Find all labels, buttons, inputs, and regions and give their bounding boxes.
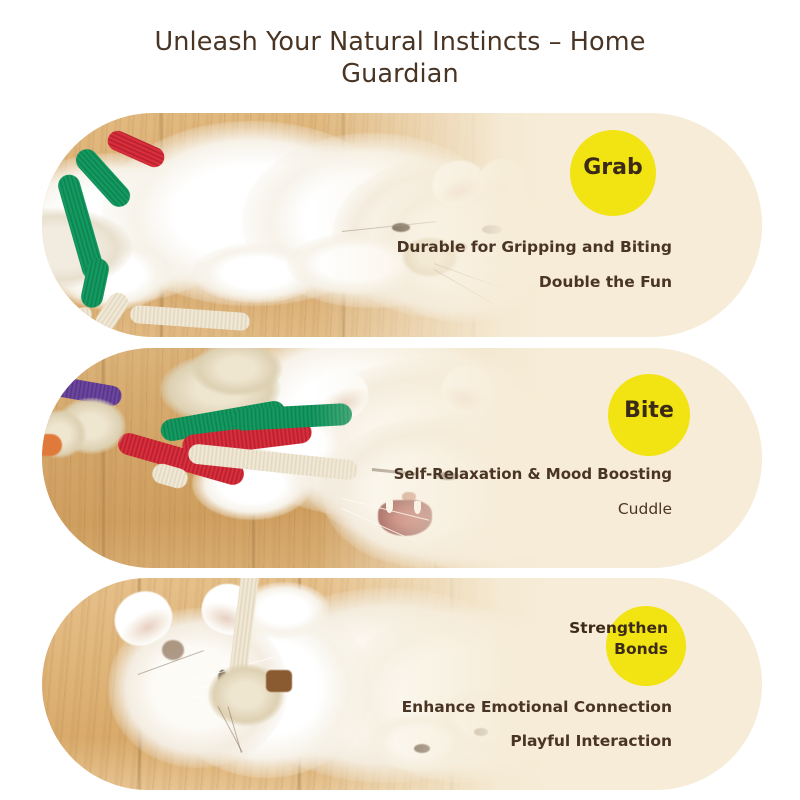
cat-photo-bonds xyxy=(42,578,562,790)
cat-photo-bite xyxy=(42,348,562,568)
badge-label-strengthen-bonds: Strengthen Bonds xyxy=(502,618,668,660)
badge-label-grab: Grab xyxy=(550,155,676,181)
feature-line-2: Cuddle xyxy=(272,500,672,518)
feature-line-1: Enhance Emotional Connection xyxy=(272,698,672,716)
photo-fade-overlay xyxy=(42,113,562,337)
feature-card-bite: Bite Self-Relaxation & Mood Boosting Cud… xyxy=(42,348,762,568)
feature-card-strengthen-bonds: Strengthen Bonds Enhance Emotional Conne… xyxy=(42,578,762,790)
feature-line-2: Playful Interaction xyxy=(272,732,672,750)
badge-label-bite: Bite xyxy=(588,398,710,424)
cat-photo-grab xyxy=(42,113,562,337)
feature-card-grab: Grab Durable for Gripping and Biting Dou… xyxy=(42,113,762,337)
feature-line-2: Double the Fun xyxy=(272,273,672,291)
page-title: Unleash Your Natural Instincts – Home Gu… xyxy=(120,26,680,90)
photo-fade-overlay xyxy=(42,578,562,790)
feature-line-1: Durable for Gripping and Biting xyxy=(272,238,672,256)
feature-line-1: Self-Relaxation & Mood Boosting xyxy=(272,465,672,483)
photo-fade-overlay xyxy=(42,348,562,568)
